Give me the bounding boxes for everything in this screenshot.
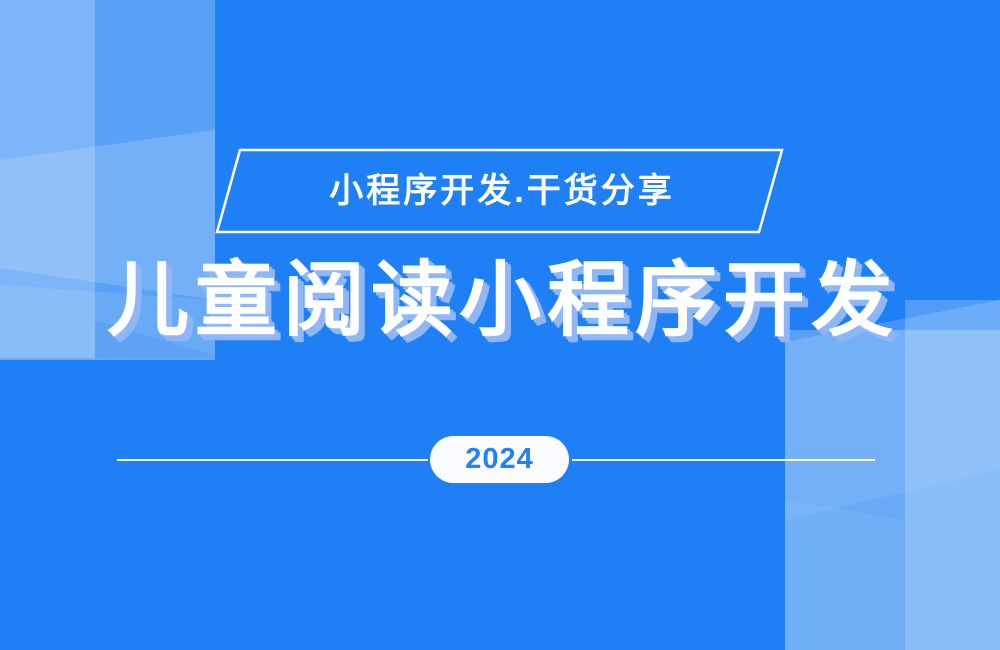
- right-shape-band: [785, 330, 1000, 650]
- divider-line-right: [572, 459, 875, 461]
- year-row: 2024: [0, 436, 1000, 484]
- divider-line-left: [117, 459, 428, 461]
- right-shape-triangle-lower: [785, 470, 1000, 650]
- banner-subtitle: 小程序开发.干货分享: [0, 146, 1000, 236]
- promo-banner: 小程序开发.干货分享 儿童阅读小程序开发 2024: [0, 0, 1000, 650]
- subtitle-block: 小程序开发.干货分享: [0, 146, 1000, 236]
- right-shape-notch: [785, 500, 905, 650]
- banner-title: 儿童阅读小程序开发: [0, 258, 1000, 344]
- year-badge: 2024: [430, 436, 569, 483]
